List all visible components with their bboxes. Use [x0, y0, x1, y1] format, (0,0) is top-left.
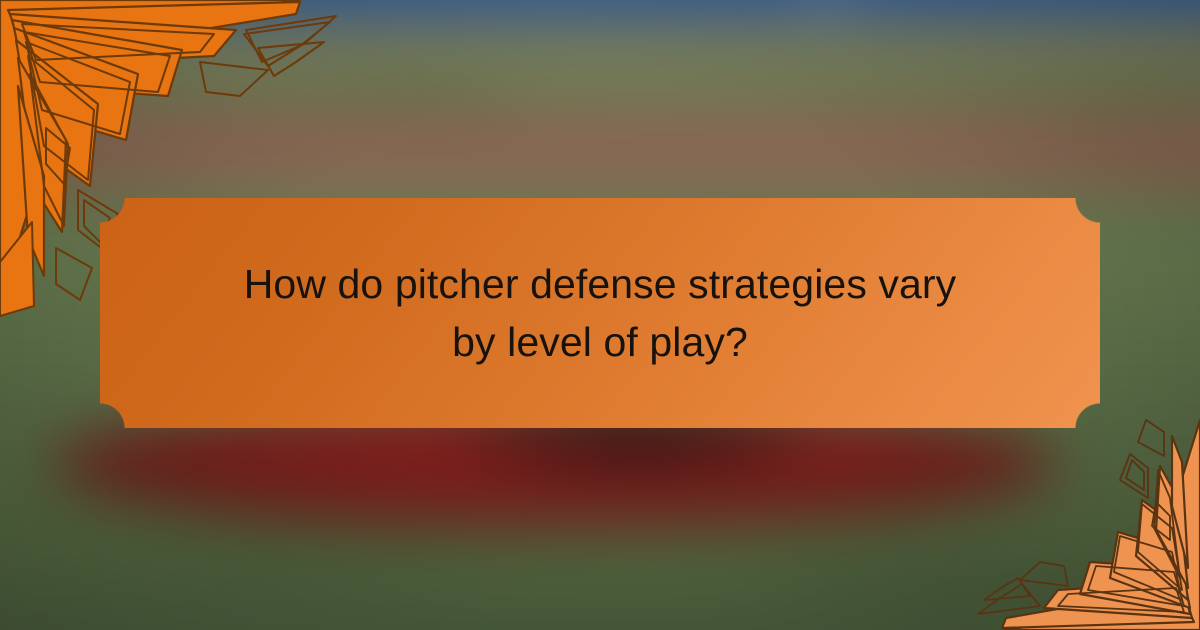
page-title: How do pitcher defense strategies vary b… [220, 255, 980, 371]
title-banner: How do pitcher defense strategies vary b… [100, 198, 1100, 428]
social-card: How do pitcher defense strategies vary b… [0, 0, 1200, 630]
